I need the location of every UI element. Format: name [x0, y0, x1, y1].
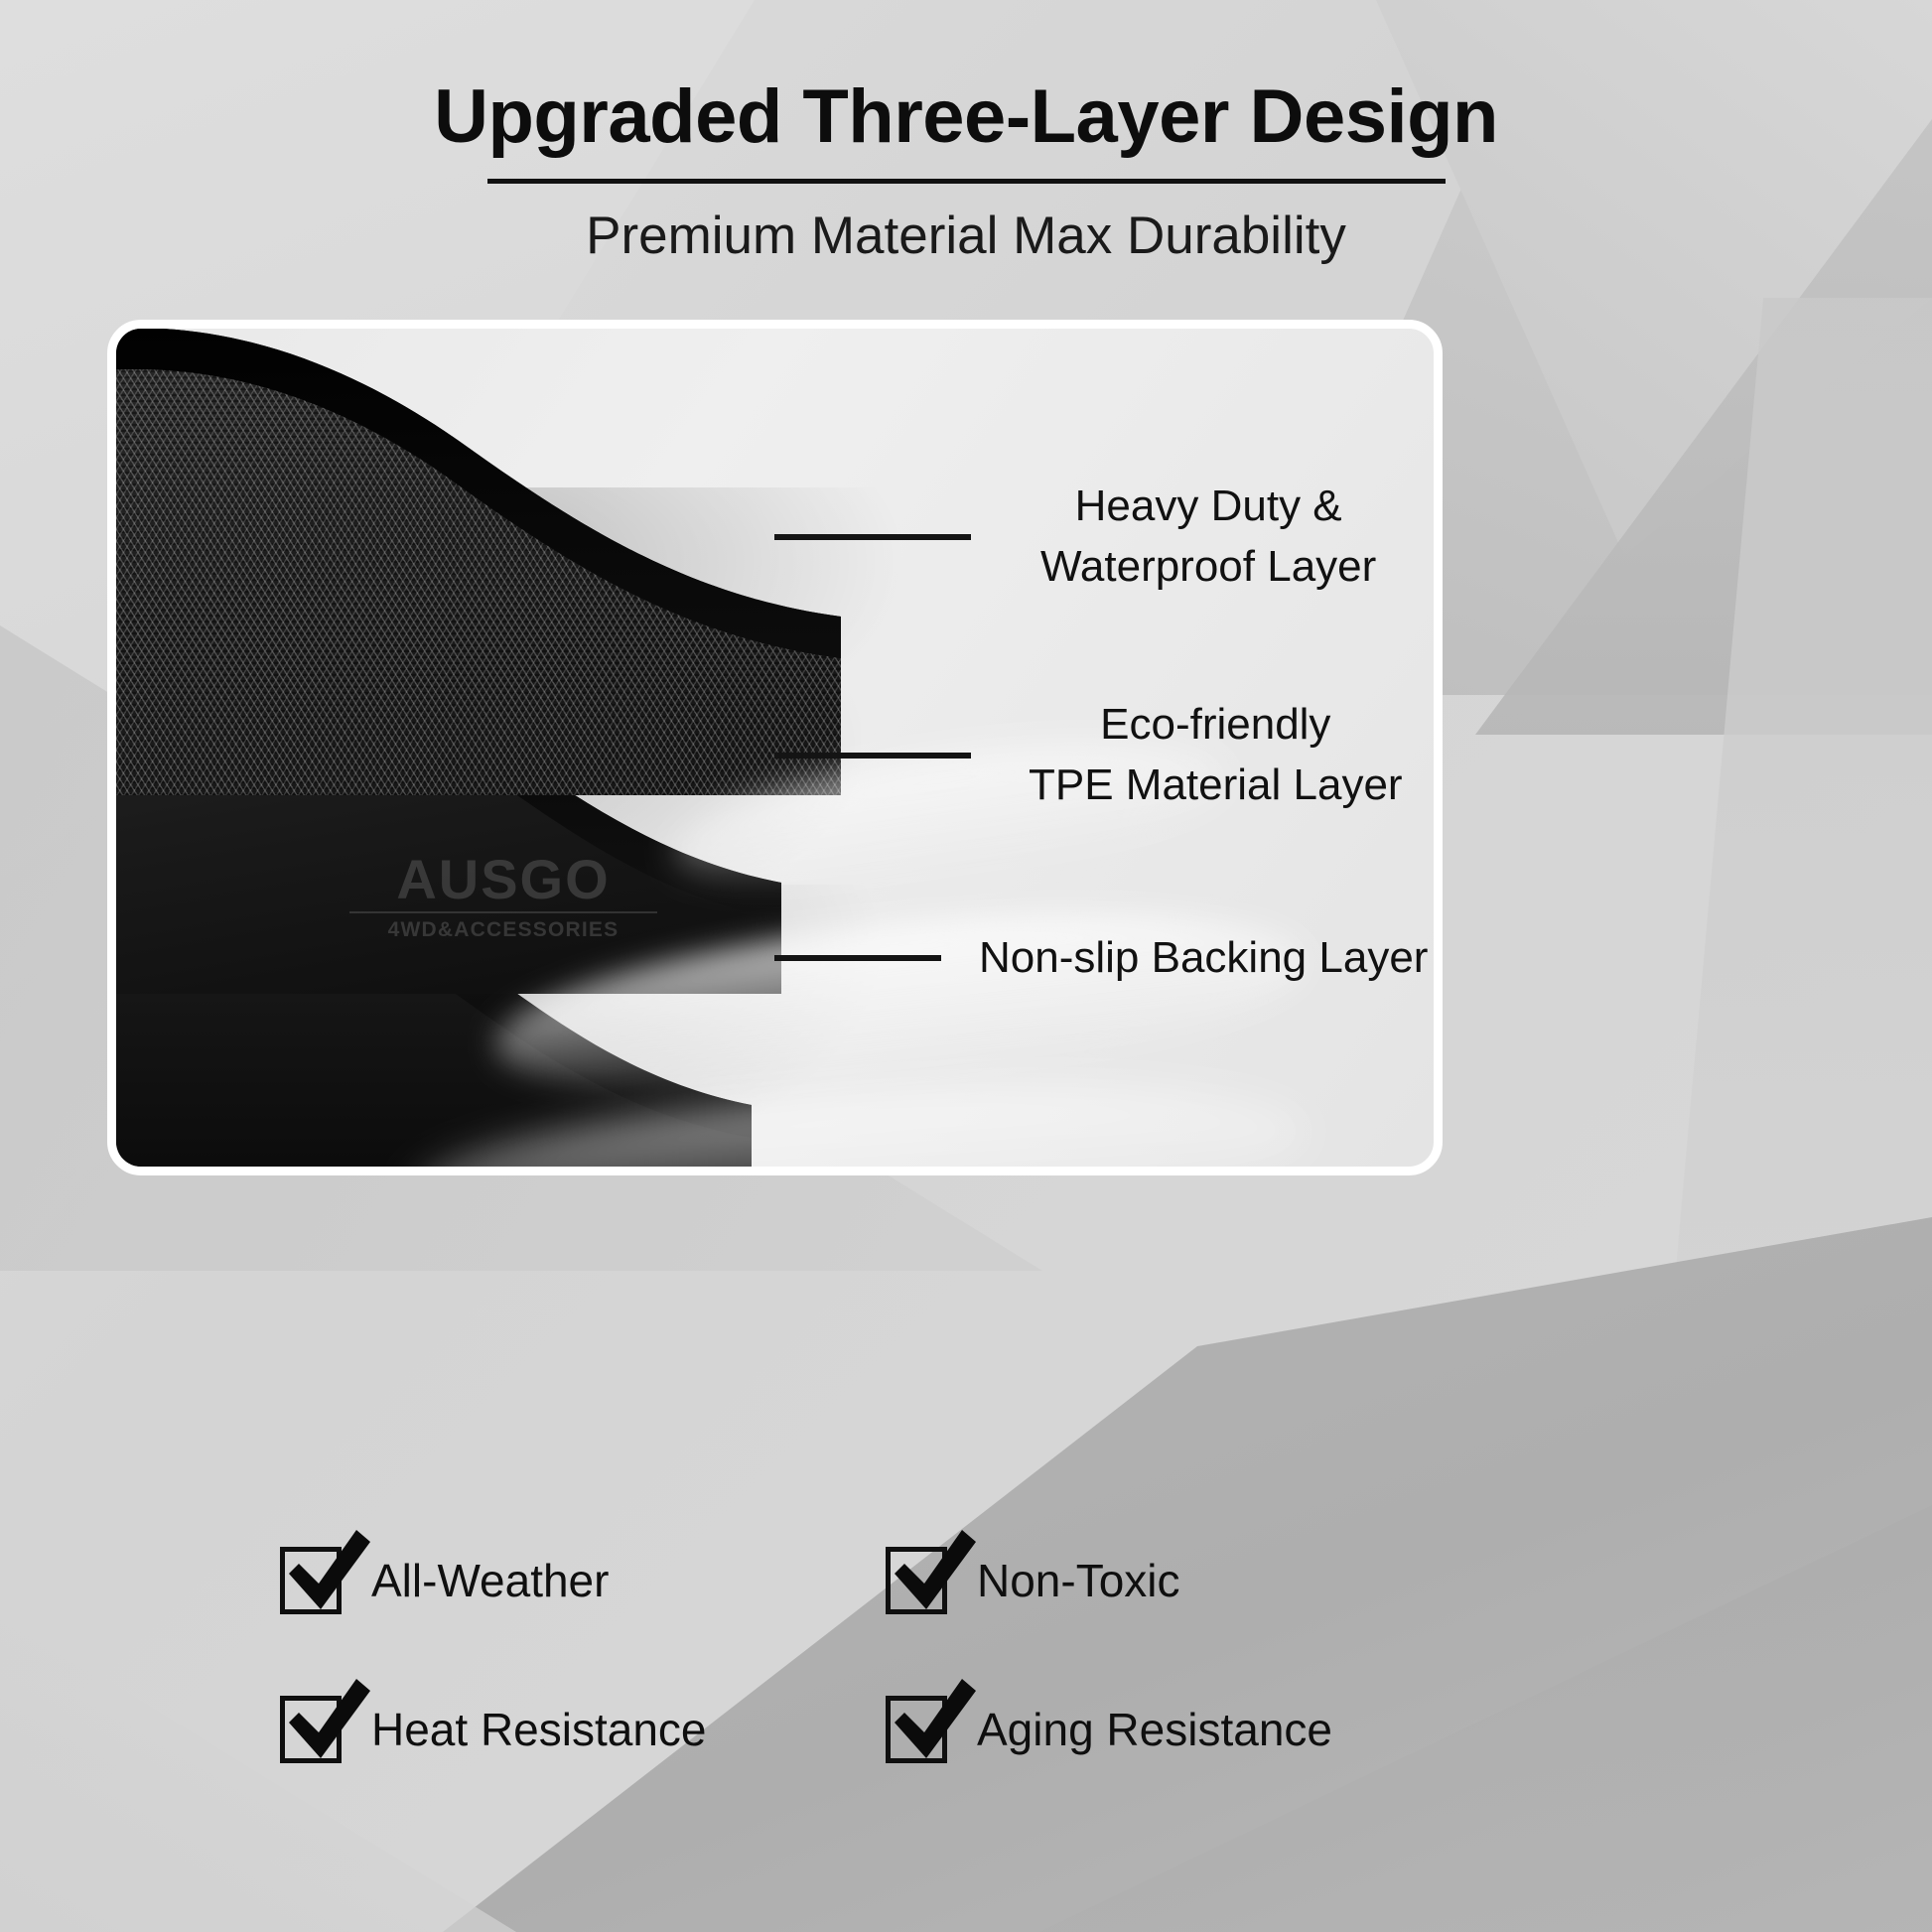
callout-non-slip-backing-layer: Non-slip Backing Layer [774, 928, 1866, 989]
checkbox-non-toxic [886, 1547, 947, 1614]
feature-label: Heat Resistance [371, 1703, 707, 1756]
feature-all-weather: All-Weather [280, 1547, 886, 1614]
checkbox-heat-resistance [280, 1696, 342, 1763]
checkbox-all-weather [280, 1547, 342, 1614]
callout-leader-line [774, 753, 971, 759]
callout-label: Heavy Duty & Waterproof Layer [1040, 477, 1376, 597]
feature-label: All-Weather [371, 1554, 609, 1607]
feature-non-toxic: Non-Toxic [886, 1547, 1650, 1614]
callout-heavy-duty-waterproof-layer: Heavy Duty & Waterproof Layer [774, 477, 1866, 597]
check-icon [281, 1675, 372, 1768]
header: Upgraded Three-Layer Design Premium Mate… [0, 77, 1932, 266]
page-title: Upgraded Three-Layer Design [0, 77, 1932, 157]
feature-heat-resistance: Heat Resistance [280, 1696, 886, 1763]
check-icon [281, 1526, 372, 1619]
feature-label: Non-Toxic [977, 1554, 1180, 1607]
page-subtitle: Premium Material Max Durability [0, 206, 1932, 266]
callout-leader-line [774, 955, 941, 961]
title-divider [487, 179, 1446, 184]
infographic-root: Upgraded Three-Layer Design Premium Mate… [0, 0, 1932, 1932]
callout-leader-line [774, 534, 971, 540]
callout-label: Eco-friendly TPE Material Layer [1029, 695, 1403, 815]
checkbox-aging-resistance [886, 1696, 947, 1763]
feature-label: Aging Resistance [977, 1703, 1332, 1756]
check-icon [887, 1675, 978, 1768]
check-icon [887, 1526, 978, 1619]
callout-label: Non-slip Backing Layer [979, 928, 1428, 989]
callout-eco-friendly-tpe-material-layer: Eco-friendly TPE Material Layer [774, 695, 1866, 815]
feature-aging-resistance: Aging Resistance [886, 1696, 1650, 1763]
feature-list: All-Weather Non-Toxic Heat Resistance [280, 1547, 1650, 1763]
